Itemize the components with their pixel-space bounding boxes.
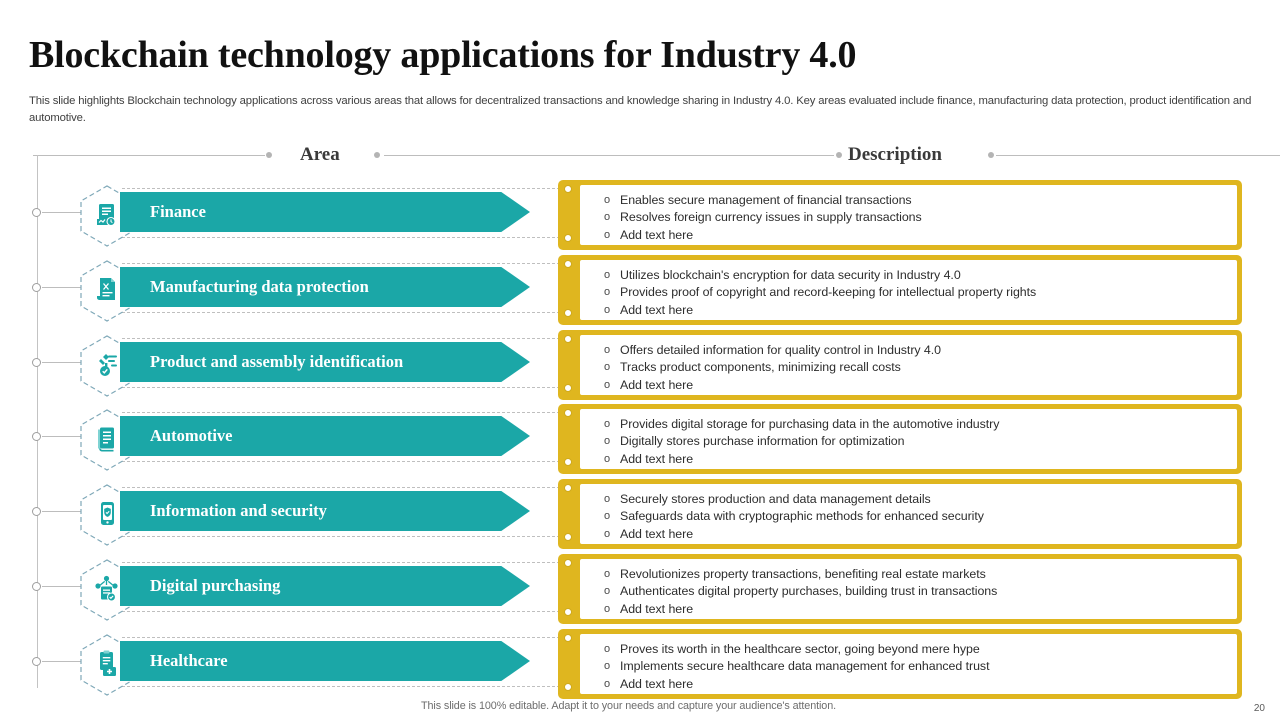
bullet-text: Add text here [620,451,1237,468]
card-tab-dot-bottom [564,683,572,691]
area-banner-6[interactable]: Healthcare [120,641,530,681]
card-tab-dot-top [564,185,572,193]
list-item: o Safeguards data with cryptographic met… [604,508,1237,525]
bullet-text: Add text here [620,377,1237,394]
header-dot-1 [266,152,272,158]
bullet-marker: o [604,302,620,319]
dashed-connector-top [122,338,565,339]
column-header-description: Description [848,144,942,166]
list-item: o Add text here [604,302,1237,319]
card-tab-dot-bottom [564,234,572,242]
description-list: o Securely stores production and data ma… [578,482,1239,546]
card-tab-dot-top [564,335,572,343]
area-row: Information and security o Securely stor… [0,479,1280,555]
card-tab-dot-top [564,484,572,492]
list-item: o Add text here [604,526,1237,543]
dashed-connector-bottom [122,536,565,537]
list-item: o Offers detailed information for qualit… [604,342,1237,359]
list-item: o Authenticates digital property purchas… [604,583,1237,600]
bullet-text: Securely stores production and data mana… [620,491,1237,508]
bullet-text: Provides proof of copyright and record-k… [620,284,1237,301]
bullet-marker: o [604,209,620,226]
column-header-area: Area [300,144,340,166]
bullet-marker: o [604,508,620,525]
area-row: Finance o Enables secure management of f… [0,180,1280,256]
list-item: o Implements secure healthcare data mana… [604,658,1237,675]
area-row: Healthcare o Proves its worth in the hea… [0,629,1280,705]
spine-node-dot [32,283,41,292]
bullet-marker: o [604,451,620,468]
bullet-marker: o [604,377,620,394]
spine-connector-stub [42,362,83,363]
bullet-marker: o [604,342,620,359]
spine-connector-stub [42,212,83,213]
area-label: Automotive [150,416,232,456]
area-row: Product and assembly identification o Of… [0,330,1280,406]
spine-connector-stub [42,287,83,288]
description-card-6[interactable]: o Proves its worth in the healthcare sec… [558,629,1242,699]
area-banner-4[interactable]: Information and security [120,491,530,531]
list-item: o Provides proof of copyright and record… [604,284,1237,301]
page-title: Blockchain technology applications for I… [29,32,856,78]
area-label: Product and assembly identification [150,342,403,382]
list-item: o Revolutionizes property transactions, … [604,566,1237,583]
dashed-connector-bottom [122,237,565,238]
spine-connector-stub [42,661,83,662]
bullet-text: Add text here [620,227,1237,244]
area-label: Healthcare [150,641,228,681]
bullet-marker: o [604,284,620,301]
spine-connector-stub [42,586,83,587]
page-number: 20 [1254,703,1265,714]
bullet-marker: o [604,601,620,618]
bullet-marker: o [604,227,620,244]
card-tab-dot-bottom [564,533,572,541]
dashed-connector-bottom [122,611,565,612]
bullet-marker: o [604,491,620,508]
list-item: o Utilizes blockchain's encryption for d… [604,267,1237,284]
description-card-4[interactable]: o Securely stores production and data ma… [558,479,1242,549]
spine-node-dot [32,208,41,217]
description-card-3[interactable]: o Provides digital storage for purchasin… [558,404,1242,474]
card-tab-dot-bottom [564,608,572,616]
spine-node-dot [32,507,41,516]
bullet-text: Add text here [620,676,1237,693]
bullet-text: Resolves foreign currency issues in supp… [620,209,1237,226]
description-list: o Offers detailed information for qualit… [578,333,1239,397]
list-item: o Add text here [604,601,1237,618]
dashed-connector-top [122,487,565,488]
list-item: o Proves its worth in the healthcare sec… [604,641,1237,658]
description-list: o Proves its worth in the healthcare sec… [578,632,1239,696]
card-tab-dot-top [564,260,572,268]
dashed-connector-bottom [122,461,565,462]
area-row: Automotive o Provides digital storage fo… [0,404,1280,480]
area-row: Manufacturing data protection o Utilizes… [0,255,1280,331]
list-item: o Enables secure management of financial… [604,192,1237,209]
spine-node-dot [32,657,41,666]
card-tab-dot-top [564,634,572,642]
bullet-text: Digitally stores purchase information fo… [620,433,1237,450]
spine-connector-stub [42,511,83,512]
bullet-text: Provides digital storage for purchasing … [620,416,1237,433]
card-tab-dot-bottom [564,458,572,466]
spine-connector-stub [42,436,83,437]
bullet-text: Offers detailed information for quality … [620,342,1237,359]
list-item: o Provides digital storage for purchasin… [604,416,1237,433]
list-item: o Add text here [604,676,1237,693]
header-dot-2 [374,152,380,158]
bullet-text: Authenticates digital property purchases… [620,583,1237,600]
slide-subtitle: This slide highlights Blockchain technol… [29,93,1254,127]
area-label: Digital purchasing [150,566,280,606]
dashed-connector-bottom [122,312,565,313]
card-tab-dot-top [564,559,572,567]
description-list: o Revolutionizes property transactions, … [578,557,1239,621]
bullet-marker: o [604,433,620,450]
list-item: o Add text here [604,377,1237,394]
list-item: o Add text here [604,227,1237,244]
area-banner-1[interactable]: Manufacturing data protection [120,267,530,307]
spine-node-dot [32,432,41,441]
bullet-text: Add text here [620,302,1237,319]
card-tab-dot-bottom [564,384,572,392]
card-tab-dot-bottom [564,309,572,317]
list-item: o Securely stores production and data ma… [604,491,1237,508]
header-rule-left [33,155,265,156]
header-dot-3 [836,152,842,158]
bullet-text: Tracks product components, minimizing re… [620,359,1237,376]
area-label: Information and security [150,491,327,531]
bullet-text: Enables secure management of financial t… [620,192,1237,209]
list-item: o Tracks product components, minimizing … [604,359,1237,376]
dashed-connector-top [122,562,565,563]
header-rule-right [996,155,1280,156]
bullet-text: Implements secure healthcare data manage… [620,658,1237,675]
spine-node-dot [32,582,41,591]
bullet-marker: o [604,658,620,675]
spine-node-dot [32,358,41,367]
description-list: o Enables secure management of financial… [578,183,1239,247]
bullet-marker: o [604,641,620,658]
dashed-connector-top [122,637,565,638]
bullet-text: Add text here [620,526,1237,543]
bullet-marker: o [604,267,620,284]
area-banner-0[interactable]: Finance [120,192,530,232]
description-card-0[interactable]: o Enables secure management of financial… [558,180,1242,250]
description-card-1[interactable]: o Utilizes blockchain's encryption for d… [558,255,1242,325]
dashed-connector-top [122,412,565,413]
bullet-marker: o [604,566,620,583]
area-label: Finance [150,192,206,232]
list-item: o Resolves foreign currency issues in su… [604,209,1237,226]
area-banner-2[interactable]: Product and assembly identification [120,342,530,382]
dashed-connector-bottom [122,686,565,687]
bullet-marker: o [604,583,620,600]
bullet-text: Safeguards data with cryptographic metho… [620,508,1237,525]
bullet-marker: o [604,192,620,209]
header-dot-4 [988,152,994,158]
description-list: o Provides digital storage for purchasin… [578,407,1239,471]
bullet-text: Proves its worth in the healthcare secto… [620,641,1237,658]
bullet-marker: o [604,416,620,433]
area-banner-3[interactable]: Automotive [120,416,530,456]
bullet-marker: o [604,359,620,376]
description-card-2[interactable]: o Offers detailed information for qualit… [558,330,1242,400]
bullet-marker: o [604,676,620,693]
area-row: Digital purchasing o Revolutionizes prop… [0,554,1280,630]
list-item: o Digitally stores purchase information … [604,433,1237,450]
dashed-connector-top [122,188,565,189]
description-list: o Utilizes blockchain's encryption for d… [578,258,1239,322]
footer-note: This slide is 100% editable. Adapt it to… [421,700,836,712]
area-banner-5[interactable]: Digital purchasing [120,566,530,606]
bullet-text: Revolutionizes property transactions, be… [620,566,1237,583]
dashed-connector-bottom [122,387,565,388]
list-item: o Add text here [604,451,1237,468]
bullet-text: Add text here [620,601,1237,618]
area-label: Manufacturing data protection [150,267,369,307]
bullet-text: Utilizes blockchain's encryption for dat… [620,267,1237,284]
description-card-5[interactable]: o Revolutionizes property transactions, … [558,554,1242,624]
card-tab-dot-top [564,409,572,417]
header-rule-middle [384,155,834,156]
dashed-connector-top [122,263,565,264]
bullet-marker: o [604,526,620,543]
